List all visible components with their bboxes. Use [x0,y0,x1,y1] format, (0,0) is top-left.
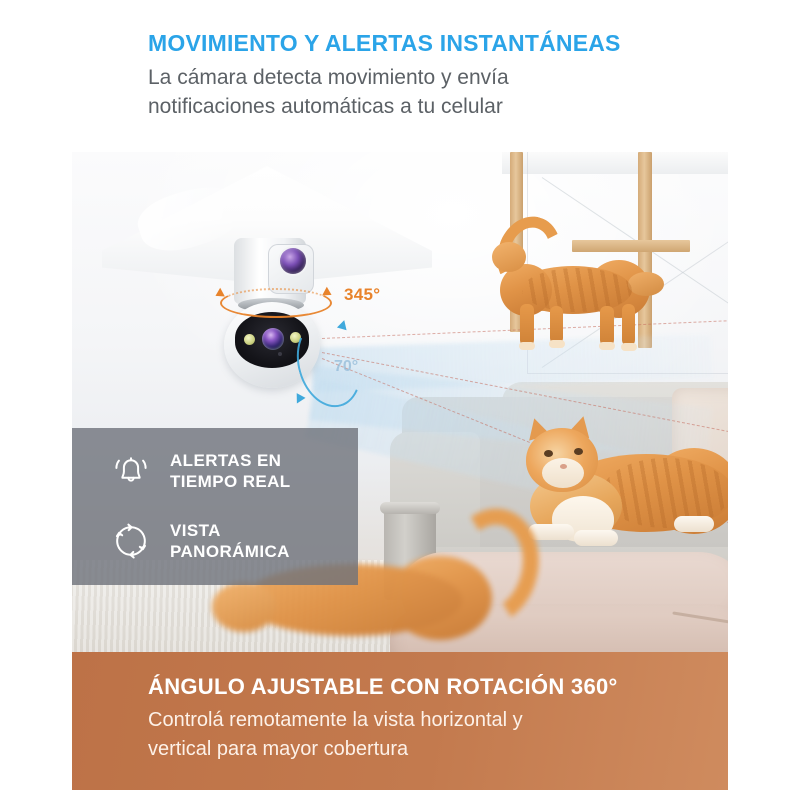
cat-paw [599,342,615,350]
cat-eye-left [544,450,553,457]
cat-paw [519,342,535,350]
cat-rear-foot [628,272,664,296]
header-subtitle-line-2: notificaciones automáticas a tu celular [148,92,748,121]
cat-paw [549,340,565,348]
header: MOVIMIENTO Y ALERTAS INSTANTÁNEAS La cám… [148,28,748,121]
feature-badge-panel: ALERTAS EN TIEMPO REAL [72,428,358,585]
badge-label-line-2: PANORÁMICA [170,541,290,562]
cat-head [212,582,276,632]
vertical-rotation-label: 70° [334,358,358,376]
cat-paw [574,530,618,546]
header-subtitle-line-1: La cámara detecta movimiento y envía [148,63,748,92]
cat-leg [550,306,563,344]
cat-paw [621,343,637,351]
camera-main-lens [262,328,284,350]
banner-subtitle: Controlá remotamente la vista horizontal… [148,706,523,764]
bottom-banner: ÁNGULO AJUSTABLE CON ROTACIÓN 360° Contr… [72,652,728,790]
cat-paw [674,516,714,532]
cat-leg [622,304,635,346]
side-bin-lid [380,502,440,514]
camera-top-lens [280,248,306,274]
cat-muzzle [542,458,584,488]
cat-walking-shelf [492,230,672,360]
cat-head [492,242,526,272]
banner-title: ÁNGULO AJUSTABLE CON ROTACIÓN 360° [148,674,618,700]
product-photo: 345° 70° ALERTAS EN [72,152,728,652]
camera-ir-led-left [244,334,255,345]
horizontal-rotation-arc-dotted [220,288,332,318]
bell-icon [108,448,154,494]
feature-badge-alerts-label: ALERTAS EN TIEMPO REAL [170,450,291,492]
banner-subtitle-line-1: Controlá remotamente la vista horizontal… [148,706,523,735]
panorama-rotation-icon [108,518,154,564]
badge-label-line-2: TIEMPO REAL [170,471,291,492]
feature-badge-alerts: ALERTAS EN TIEMPO REAL [108,448,291,494]
page-title: MOVIMIENTO Y ALERTAS INSTANTÁNEAS [148,28,748,58]
horizontal-rotation-label: 345° [344,285,380,305]
feature-badge-panorama: VISTA PANORÁMICA [108,518,290,564]
badge-label-line-1: ALERTAS EN [170,450,291,471]
cat-leg [520,304,534,346]
cat-leg [600,306,614,346]
security-camera-device: 345° 70° [102,160,432,390]
header-subtitle: La cámara detecta movimiento y envía not… [148,63,748,121]
product-feature-card: MOVIMIENTO Y ALERTAS INSTANTÁNEAS La cám… [0,0,800,800]
cat-stripes [522,268,632,312]
camera-microphone [278,352,282,356]
feature-badge-panorama-label: VISTA PANORÁMICA [170,520,290,562]
cat-lying-cushion [512,420,728,550]
banner-subtitle-line-2: vertical para mayor cobertura [148,735,523,764]
badge-label-line-1: VISTA [170,520,290,541]
cat-eye-right [574,448,583,455]
cat-nose [560,464,567,469]
